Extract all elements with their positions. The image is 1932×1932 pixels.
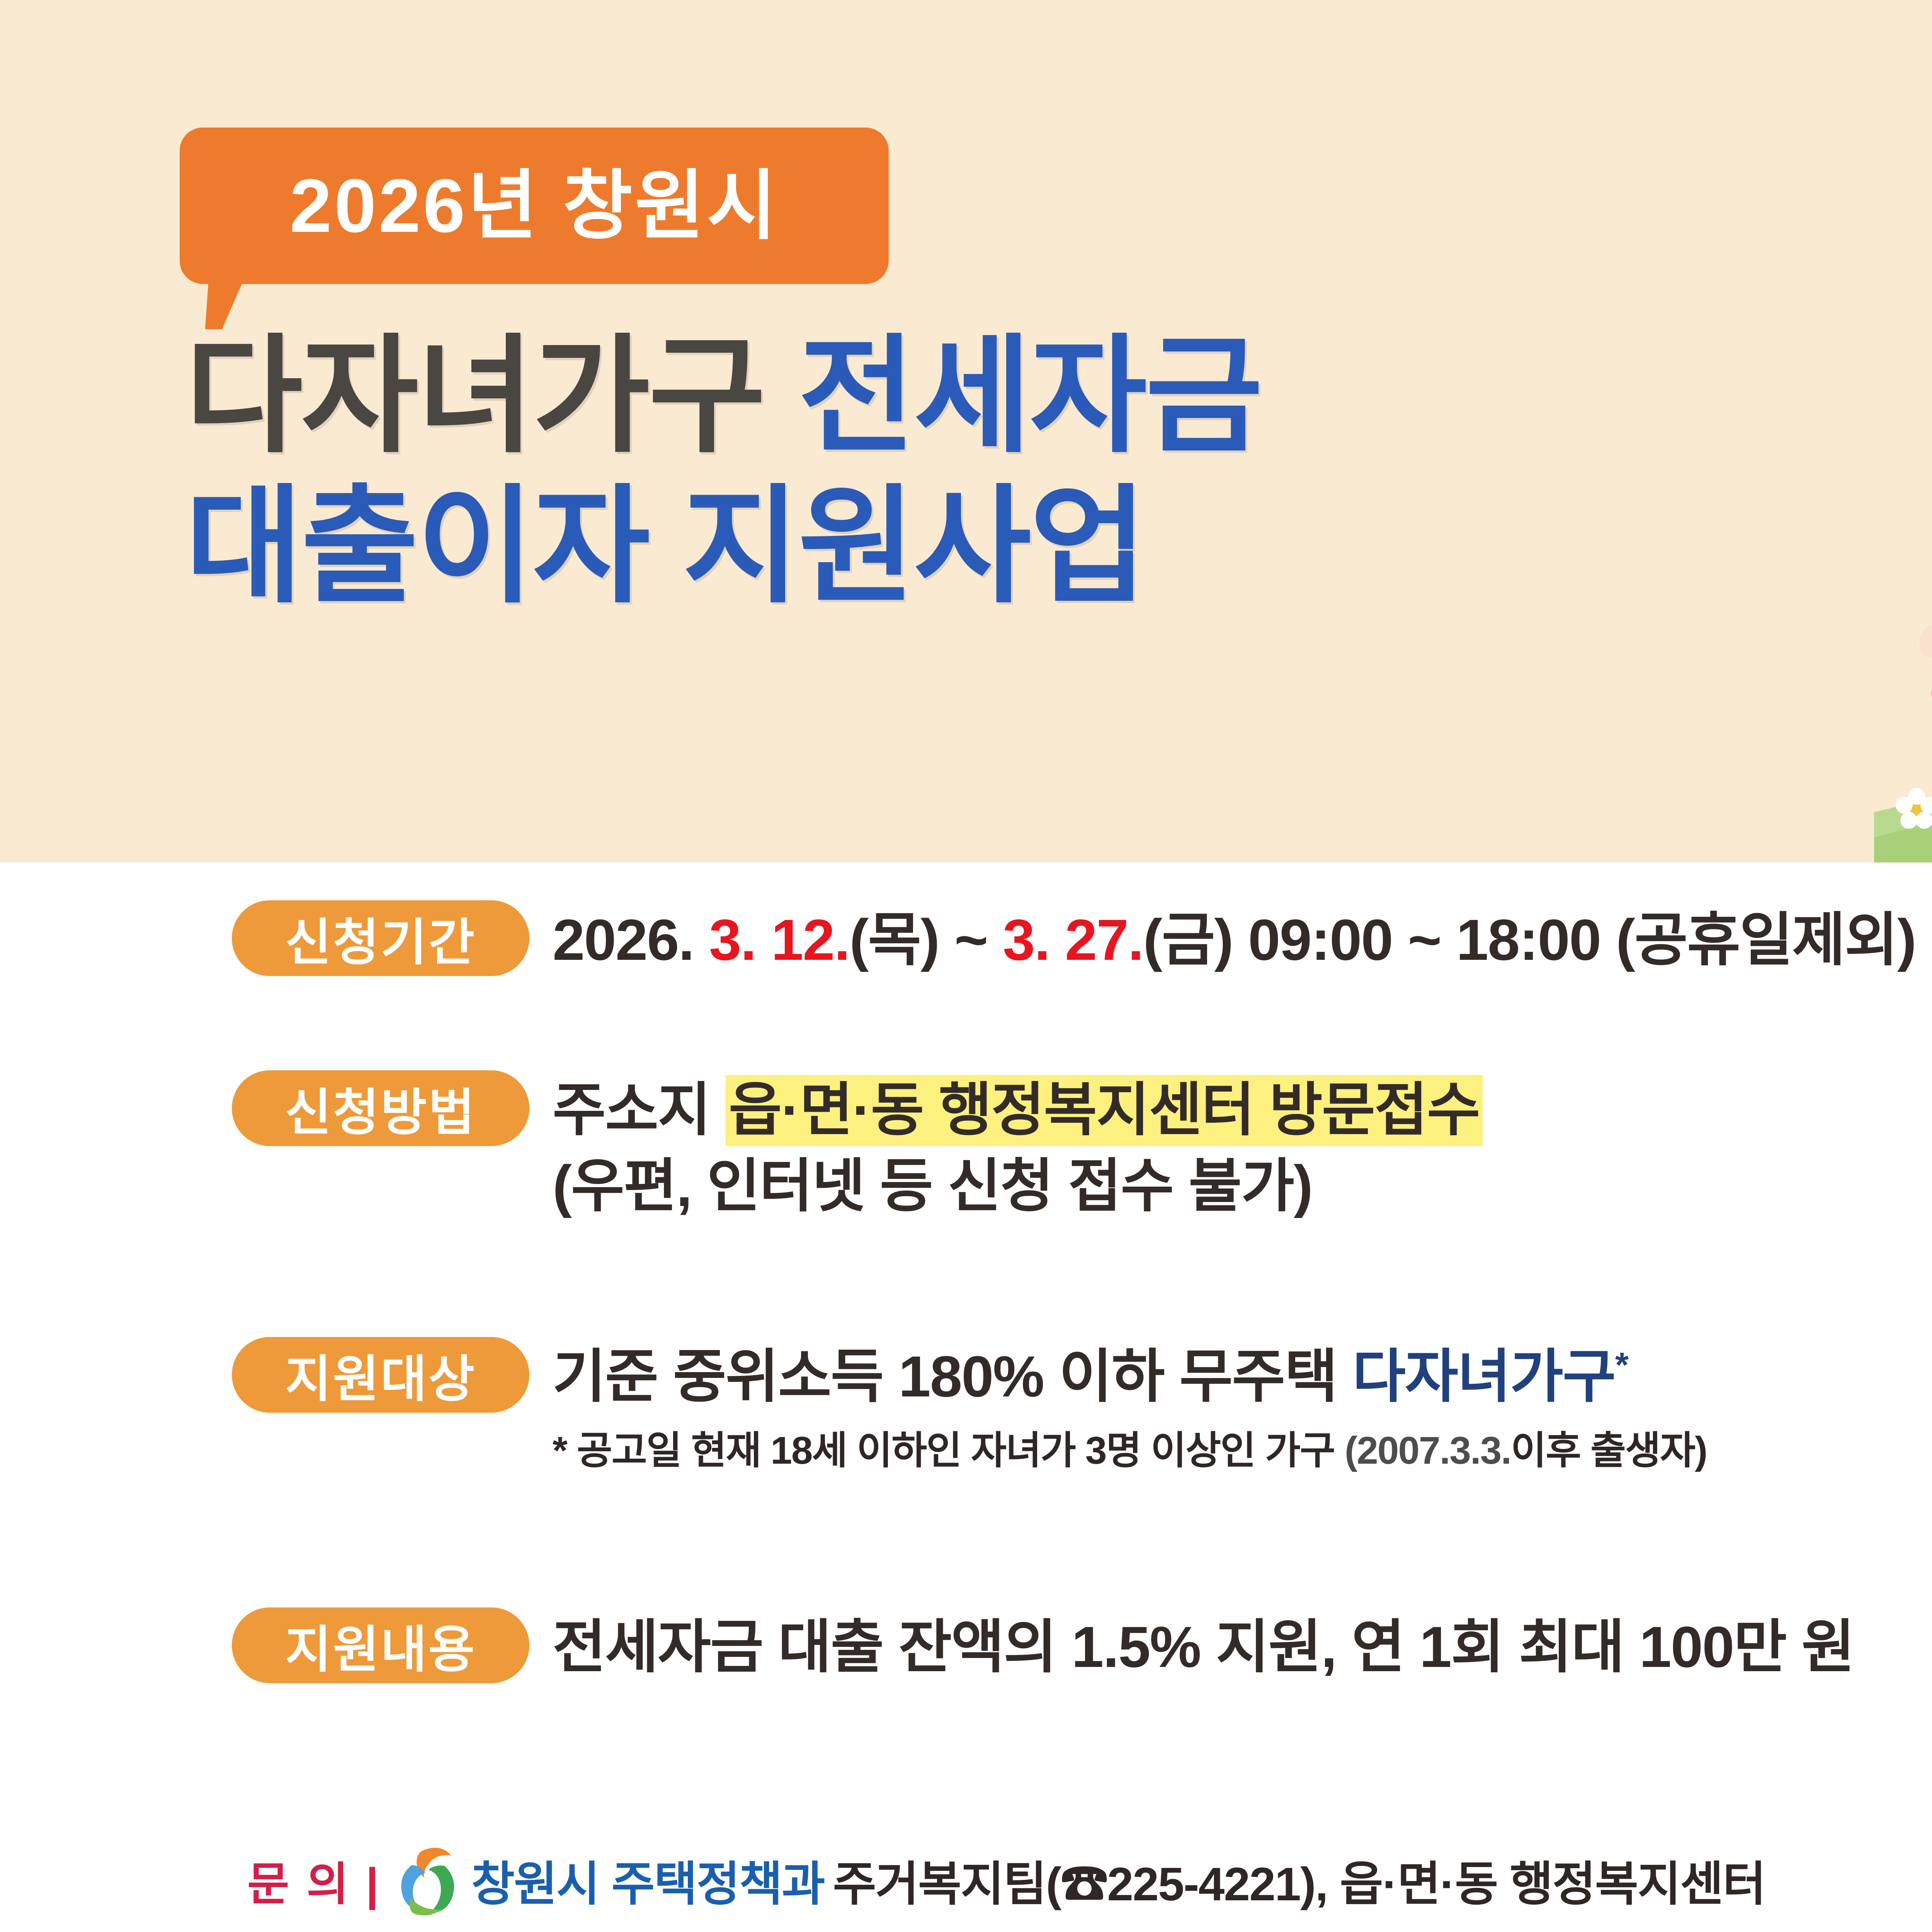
contact-team-phone: 주거복지팀(☎225-4221), 읍·면·동 행정복지센터 — [833, 1846, 1765, 1914]
content-body: 전세자금 대출 잔액의 1.5% 지원, 연 1회 최대 100만 원 — [553, 1607, 1854, 1684]
period-end-date: 3. 27. — [1003, 907, 1143, 972]
badge-application-period: 신청기간 — [232, 900, 529, 976]
year-badge-label: 2026년 창원시 — [290, 168, 779, 244]
family-illustration — [1874, 340, 1932, 862]
header-band: 2026년 창원시 동북아 중심도시 창원 다자녀가구 전세자금 대출이자 지원… — [0, 0, 1932, 862]
target-prefix: 기준 중위소득 180% 이하 무주택 — [553, 1344, 1337, 1409]
method-prefix: 주소지 — [553, 1077, 710, 1142]
content-text: 전세자금 대출 잔액의 1.5% 지원, 연 1회 최대 100만 원 — [553, 1610, 1854, 1684]
changwon-city-emblem — [389, 1843, 463, 1917]
title-part-blue-2: 대출이자 지원사업 — [185, 475, 1145, 617]
year-badge: 2026년 창원시 — [180, 128, 889, 284]
badge-support-content: 지원내용 — [232, 1607, 529, 1683]
method-body: 주소지 읍·면·동 행정복지센터 방문접수 (우편, 인터넷 등 신청 접수 불… — [553, 1070, 1483, 1225]
period-hours: (금) 09:00 ~ 18:00 (공휴일제외) — [1143, 907, 1916, 972]
info-row-period: 신청기간 2026. 3. 12.(목) ~ 3. 27.(금) 09:00 ~… — [0, 900, 1916, 977]
footer-contact: 문 의 | 창원시 주택정책과 주거복지팀(☎225-4221), 읍·면·동 … — [247, 1843, 1765, 1917]
page-title: 다자녀가구 전세자금 대출이자 지원사업 — [185, 321, 1261, 622]
target-text: 기준 중위소득 180% 이하 무주택 다자녀가구* — [553, 1339, 1707, 1413]
period-start-date: 3. 12. — [709, 907, 849, 972]
target-footnote: * 공고일 현재 18세 이하인 자녀가 3명 이상인 가구 (2007.3.3… — [553, 1423, 1707, 1478]
period-start-day: (목) ~ — [849, 907, 987, 972]
method-text: 주소지 읍·면·동 행정복지센터 방문접수 — [553, 1073, 1483, 1147]
contact-label: 문 의 | — [247, 1847, 381, 1913]
period-text: 2026. 3. 12.(목) ~ 3. 27.(금) 09:00 ~ 18:0… — [553, 903, 1916, 977]
info-row-method: 신청방법 주소지 읍·면·동 행정복지센터 방문접수 (우편, 인터넷 등 신청… — [0, 1070, 1483, 1225]
footnote-date: (2007.3.3. — [1345, 1429, 1511, 1472]
badge-support-target: 지원대상 — [232, 1337, 529, 1413]
title-part-dark: 다자녀가구 — [185, 325, 764, 467]
method-restriction: (우편, 인터넷 등 신청 접수 불가) — [553, 1147, 1483, 1225]
period-body: 2026. 3. 12.(목) ~ 3. 27.(금) 09:00 ~ 18:0… — [553, 900, 1916, 977]
contact-department: 창원시 주택정책과 — [471, 1846, 825, 1914]
method-highlight: 읍·면·동 행정복지센터 방문접수 — [726, 1075, 1483, 1146]
target-asterisk: * — [1615, 1346, 1628, 1384]
period-year: 2026. — [553, 907, 694, 972]
target-body: 기준 중위소득 180% 이하 무주택 다자녀가구* * 공고일 현재 18세 … — [553, 1337, 1707, 1478]
badge-application-method: 신청방법 — [232, 1070, 529, 1146]
info-row-target: 지원대상 기준 중위소득 180% 이하 무주택 다자녀가구* * 공고일 현재… — [0, 1337, 1707, 1478]
target-emphasis: 다자녀가구 — [1352, 1344, 1615, 1409]
footnote-main: * 공고일 현재 18세 이하인 자녀가 3명 이상인 가구 — [553, 1429, 1345, 1472]
info-row-content: 지원내용 전세자금 대출 잔액의 1.5% 지원, 연 1회 최대 100만 원 — [0, 1607, 1854, 1684]
title-line-1: 다자녀가구 전세자금 — [185, 321, 1261, 471]
title-part-blue: 전세자금 — [798, 325, 1261, 467]
footnote-suffix: 이후 출생자) — [1511, 1429, 1707, 1472]
footer: 문 의 | 창원시 주택정책과 주거복지팀(☎225-4221), 읍·면·동 … — [0, 1832, 1932, 1932]
title-line-2: 대출이자 지원사업 — [185, 471, 1261, 621]
